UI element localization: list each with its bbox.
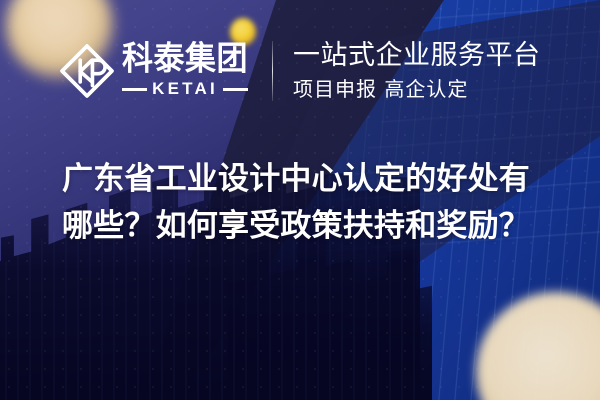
vertical-divider-icon	[272, 41, 273, 101]
logo-company-name-en: KETAI	[152, 79, 218, 99]
ketai-diamond-kp-monogram-icon	[58, 42, 116, 100]
logo-company-name-cn: 科泰集团	[122, 43, 248, 76]
slogan-primary: 一站式企业服务平台	[293, 42, 541, 70]
logo-wordmark: 科泰集团 KETAI	[122, 43, 248, 99]
page-title: 广东省工业设计中心认定的好处有 哪些？如何享受政策扶持和奖励？	[62, 156, 544, 250]
slogan-secondary: 项目申报 高企认定	[293, 78, 541, 100]
logo-dash-right-icon	[223, 88, 248, 91]
logo-dash-left-icon	[122, 88, 147, 91]
brand-slogan: 一站式企业服务平台 项目申报 高企认定	[293, 42, 541, 99]
logo-english-row: KETAI	[122, 79, 248, 99]
page-title-line-1: 广东省工业设计中心认定的好处有	[62, 156, 544, 203]
page-title-line-2: 哪些？如何享受政策扶持和奖励？	[62, 203, 544, 250]
brand-header: 科泰集团 KETAI 一站式企业服务平台 项目申报 高企认定	[58, 41, 541, 101]
article-cover-banner: 科泰集团 KETAI 一站式企业服务平台 项目申报 高企认定 广东省工业设计中心…	[0, 0, 600, 400]
